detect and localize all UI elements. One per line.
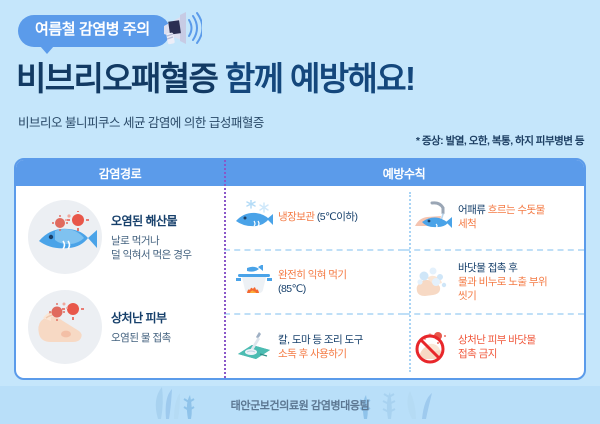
prevention-plain: 바닷물 접촉 후 <box>458 261 547 275</box>
infected-fish-icon <box>28 200 102 274</box>
infographic-poster: 여름철 감염병 주의 비브리오패혈증 함께 예방해요! 비브리오 불니피쿠스 세… <box>0 0 600 424</box>
column-header-routes: 감염경로 <box>16 165 224 182</box>
route-desc-line1: 오염된 물 접촉 <box>111 331 171 345</box>
prevention-column-left: 냉장보관 (5℃이하) <box>224 186 404 378</box>
cooking-pot-icon <box>234 265 274 299</box>
prevention-text: 바닷물 접촉 후 물과 비누로 노출 부위 씻기 <box>454 261 547 304</box>
footer-band: 태안군보건의료원 감염병대응팀 <box>0 386 600 424</box>
route-desc: 날로 먹거나 덜 익혀서 먹은 경우 <box>111 234 192 262</box>
list-item: 어패류 흐르는 수돗물 세척 <box>404 186 584 251</box>
washing-fish-icon <box>414 200 454 234</box>
route-text: 오염된 해산물 날로 먹거나 덜 익혀서 먹은 경우 <box>102 212 192 262</box>
season-warning-badge: 여름철 감염병 주의 <box>18 15 170 47</box>
column-header-prevention: 예방수칙 <box>224 165 584 182</box>
fish-snowflake-icon <box>234 200 274 234</box>
title-rest: 함께 예방해요! <box>225 60 415 97</box>
page-subtitle: 비브리오 불니피쿠스 세균 감염에 의한 급성패혈증 <box>18 112 264 131</box>
no-contact-prohibition-icon <box>414 330 454 364</box>
prevention-plain: (5℃이하) <box>314 211 357 223</box>
prevention-accent: 완전히 익혀 먹기 <box>278 269 347 281</box>
prevention-text: 상처난 피부 바닷물 접촉 금지 <box>454 333 536 361</box>
route-title: 오염된 해산물 <box>111 212 192 229</box>
list-item: 칼, 도마 등 조리 도구 소독 후 사용하기 <box>224 315 404 378</box>
prevention-accent: 냉장보관 <box>278 211 314 223</box>
cutting-board-icon <box>234 330 274 364</box>
card-header: 감염경로 예방수칙 <box>16 160 584 186</box>
route-desc: 오염된 물 접촉 <box>111 331 171 345</box>
route-desc-line2: 덜 익혀서 먹은 경우 <box>111 248 192 262</box>
badge-row: 여름철 감염병 주의 <box>18 11 202 51</box>
routes-column: 오염된 해산물 날로 먹거나 덜 익혀서 먹은 경우 <box>16 186 224 378</box>
prevention-text: 완전히 익혀 먹기 (85℃) <box>274 268 347 296</box>
title-main-word: 비브리오패혈증 <box>16 60 217 97</box>
prevention-extra: 씻기 <box>458 289 547 303</box>
prevention-accent: 물과 비누로 노출 부위 <box>458 275 547 289</box>
list-item: 오염된 해산물 날로 먹거나 덜 익혀서 먹은 경우 <box>20 192 224 282</box>
list-item: 상처난 피부 바닷물 접촉 금지 <box>404 315 584 378</box>
route-desc-line1: 날로 먹거나 <box>111 234 192 248</box>
prevention-columns: 냉장보관 (5℃이하) <box>224 186 584 378</box>
prevention-plain: 칼, 도마 등 조리 도구 <box>278 333 363 347</box>
list-item: 냉장보관 (5℃이하) <box>224 186 404 251</box>
prevention-text: 냉장보관 (5℃이하) <box>274 210 357 224</box>
divider-vertical-blue <box>409 192 411 372</box>
list-item: 완전히 익혀 먹기 (85℃) <box>224 251 404 316</box>
prevention-accent: 소독 후 사용하기 <box>278 347 363 361</box>
prevention-text: 칼, 도마 등 조리 도구 소독 후 사용하기 <box>274 333 363 361</box>
route-title: 상처난 피부 <box>111 309 171 326</box>
card-body: 오염된 해산물 날로 먹거나 덜 익혀서 먹은 경우 <box>16 186 584 378</box>
prevention-plain: 어패류 <box>458 204 488 216</box>
prevention-column-right: 어패류 흐르는 수돗물 세척 <box>404 186 584 378</box>
prevention-text: 어패류 흐르는 수돗물 세척 <box>454 203 545 231</box>
soap-hands-icon <box>414 265 454 299</box>
info-card: 감염경로 예방수칙 <box>14 158 586 380</box>
route-text: 상처난 피부 오염된 물 접촉 <box>102 309 171 345</box>
page-title: 비브리오패혈증 함께 예방해요! <box>16 62 414 95</box>
list-item: 바닷물 접촉 후 물과 비누로 노출 부위 씻기 <box>404 251 584 316</box>
prevention-extra: 접촉 금지 <box>458 347 536 361</box>
prevention-accent: 흐르는 수돗물 <box>488 204 545 216</box>
divider-vertical-purple <box>224 160 226 378</box>
symptom-note: * 증상: 발열, 오한, 복통, 하지 피부병변 등 <box>416 133 584 148</box>
wounded-arm-icon <box>28 290 102 364</box>
prevention-extra: 세척 <box>458 217 545 231</box>
prevention-extra: (85℃) <box>278 282 347 296</box>
prevention-accent: 상처난 피부 바닷물 <box>458 333 536 347</box>
footer-org-text: 태안군보건의료원 감염병대응팀 <box>0 397 600 413</box>
megaphone-icon <box>156 9 202 54</box>
list-item: 상처난 피부 오염된 물 접촉 <box>20 282 224 372</box>
